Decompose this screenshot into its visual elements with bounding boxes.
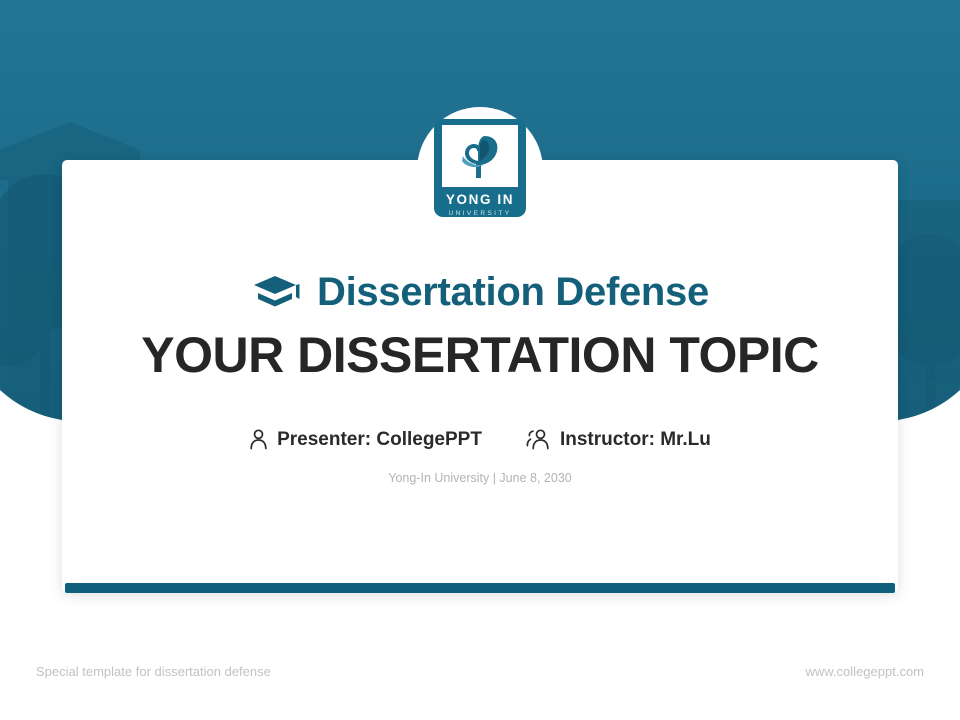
footer-right-text: www.collegeppt.com bbox=[806, 665, 925, 678]
card-content: Dissertation Defense YOUR DISSERTATION T… bbox=[62, 160, 898, 592]
people-group-icon bbox=[526, 429, 551, 450]
eyebrow-row: Dissertation Defense bbox=[251, 272, 709, 312]
graduation-cap-icon bbox=[251, 273, 303, 311]
credits-row: Presenter: CollegePPT Instructor: Mr.Lu bbox=[249, 429, 711, 450]
eyebrow-text: Dissertation Defense bbox=[317, 272, 709, 312]
presentation-slide: YONG IN UNIVERSITY Dissertation Defense … bbox=[0, 0, 960, 720]
presenter-credit: Presenter: CollegePPT bbox=[249, 429, 482, 450]
page-title: YOUR DISSERTATION TOPIC bbox=[141, 328, 818, 383]
slide-footer: Special template for dissertation defens… bbox=[0, 632, 960, 720]
footer-left-text: Special template for dissertation defens… bbox=[36, 665, 271, 678]
presenter-label: Presenter: CollegePPT bbox=[277, 430, 482, 449]
person-icon bbox=[249, 429, 268, 450]
slide-meta: Yong-In University | June 8, 2030 bbox=[388, 472, 571, 485]
instructor-credit: Instructor: Mr.Lu bbox=[526, 429, 711, 450]
instructor-label: Instructor: Mr.Lu bbox=[560, 430, 711, 449]
